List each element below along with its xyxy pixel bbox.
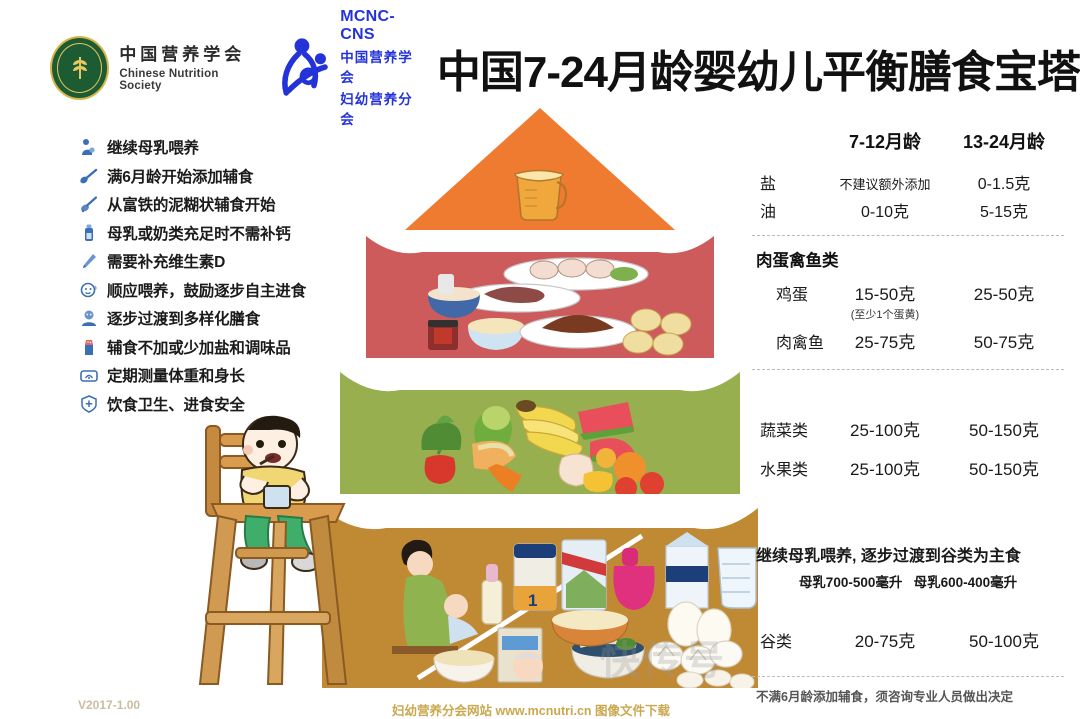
row-label: 盐 [752,170,826,194]
table-row-egg-note: (至少1个蛋黄) [752,309,1064,322]
row-label: 肉禽鱼 [752,329,826,353]
pyramid-tier-vegetable-fruit [340,372,740,494]
mother-child-mark-icon [277,35,334,101]
child-head-icon [78,307,100,329]
vegetables-fruits-icon [340,372,740,494]
row-divider [752,235,1064,236]
table-row-fruits: 水果类 25-100克 50-150克 [752,455,1064,480]
pyramid-tier-oil [405,108,675,232]
row-value-13-24: 25-50克 [944,280,1064,305]
table-row-vegetables: 蔬菜类 25-100克 50-150克 [752,416,1064,441]
breastmilk-amount-7-12: 母乳700-500毫升 [799,575,903,590]
hygiene-shield-icon [78,393,100,415]
pyramid-tier-meat-egg-fish [366,236,714,358]
row-label: 油 [752,198,826,222]
row-label: 蔬菜类 [752,417,826,441]
table-row-egg: 鸡蛋 15-50克 25-50克 [752,280,1064,305]
table-header-row: 7-12月龄 13-24月龄 [752,128,1064,154]
list-item-label: 满6月龄开始添加辅食 [107,165,253,187]
row-value-7-12: 15-50克 [826,280,944,305]
row-value-13-24: 50-100克 [944,627,1064,652]
row-value-7-12: 0-10克 [826,198,944,222]
table-row-oil: 油 0-10克 5-15克 [752,198,1064,222]
breastmilk-amounts: 母乳700-500毫升 母乳600-400毫升 [752,571,1064,591]
credit-url: 妇幼营养分会网站 www.mcnutri.cn 图像文件下载 [392,700,670,719]
cns-logo-text: 中国营养学会 Chinese Nutrition Society [119,44,253,92]
baby-in-highchair-icon [178,398,396,698]
breastmilk-headline: 继续母乳喂养, 逐步过渡到谷类为主食 [752,542,1064,566]
column-header-13-24: 13-24月龄 [944,128,1064,154]
footnote-divider [752,676,1064,677]
row-value-7-12: 25-100克 [826,416,944,441]
puree-spoon-icon [78,193,100,215]
row-value-7-12: 25-100克 [826,455,944,480]
svg-text:1: 1 [528,591,537,610]
row-value-7-12: 25-75克 [826,328,944,353]
row-value-13-24: 0-1.5克 [944,170,1064,194]
milk-bottle-icon [78,222,100,244]
page-header: 中国营养学会 Chinese Nutrition Society MCNC-CN… [0,22,1080,114]
mcnc-line1: 中国营养学会 [340,46,423,86]
row-value-7-12: 不建议额外添加 [826,174,944,193]
column-header-7-12: 7-12月龄 [826,128,944,154]
weight-scale-icon [78,364,100,386]
table-footnote: 不满6月龄添加辅食，须咨询专业人员做出决定 [756,686,1076,705]
list-item-label: 需要补充维生素D [107,250,225,272]
meat-fish-egg-plate-icon [366,236,714,358]
row-value-7-12: 20-75克 [826,627,944,652]
table-row-grains: 谷类 20-75克 50-100克 [752,627,1064,652]
salt-shaker-icon [78,336,100,358]
wheat-seal-icon [50,36,109,100]
row-divider [752,369,1064,370]
nutrition-table: 7-12月龄 13-24月龄 盐 不建议额外添加 0-1.5克 油 0-10克 … [752,128,1064,656]
watermark: 快传号 [600,628,726,686]
column-header-category [752,128,826,154]
cns-logo: 中国营养学会 Chinese Nutrition Society [50,36,253,100]
row-value-13-24: 5-15克 [944,198,1064,222]
cns-english-name: Chinese Nutrition Society [119,68,253,92]
list-item-label: 顺应喂养，鼓励逐步自主进食 [107,279,306,301]
list-item-label: 继续母乳喂养 [107,136,199,158]
dropper-icon [78,250,100,272]
table-row-salt: 盐 不建议额外添加 0-1.5克 [752,170,1064,194]
row-label: 谷类 [752,628,826,652]
list-item-label: 母乳或奶类充足时不需补钙 [107,222,291,244]
row-value-13-24: 50-150克 [944,416,1064,441]
row-value-13-24: 50-75克 [944,328,1064,353]
cns-chinese-name: 中国营养学会 [119,44,253,65]
list-item-label: 逐步过渡到多样化膳食 [107,307,260,329]
egg-yolk-note: (至少1个蛋黄) [826,306,944,322]
page-title: 中国7-24月龄婴幼儿平衡膳食宝塔 [437,36,1080,100]
breastmilk-amount-13-24: 母乳600-400毫升 [914,575,1018,590]
spoon-icon [78,165,100,187]
list-item-label: 定期测量体重和身长 [107,364,245,386]
wheat-glyph-icon [67,53,93,83]
breastfeeding-icon [78,136,100,158]
version-label: V2017-1.00 [78,698,140,712]
mcnc-title: MCNC-CNS [340,8,423,44]
list-item-label: 从富铁的泥糊状辅食开始 [107,193,275,215]
row-label: 水果类 [752,456,826,480]
list-item-label: 辅食不加或少加盐和调味品 [107,336,291,358]
group-heading-meat: 肉蛋禽鱼类 [752,247,1064,271]
row-label: 鸡蛋 [752,281,826,305]
table-row-meat-fish: 肉禽鱼 25-75克 50-75克 [752,328,1064,353]
baby-face-icon [78,279,100,301]
row-value-13-24: 50-150克 [944,455,1064,480]
oil-measuring-cup-icon [507,162,573,224]
